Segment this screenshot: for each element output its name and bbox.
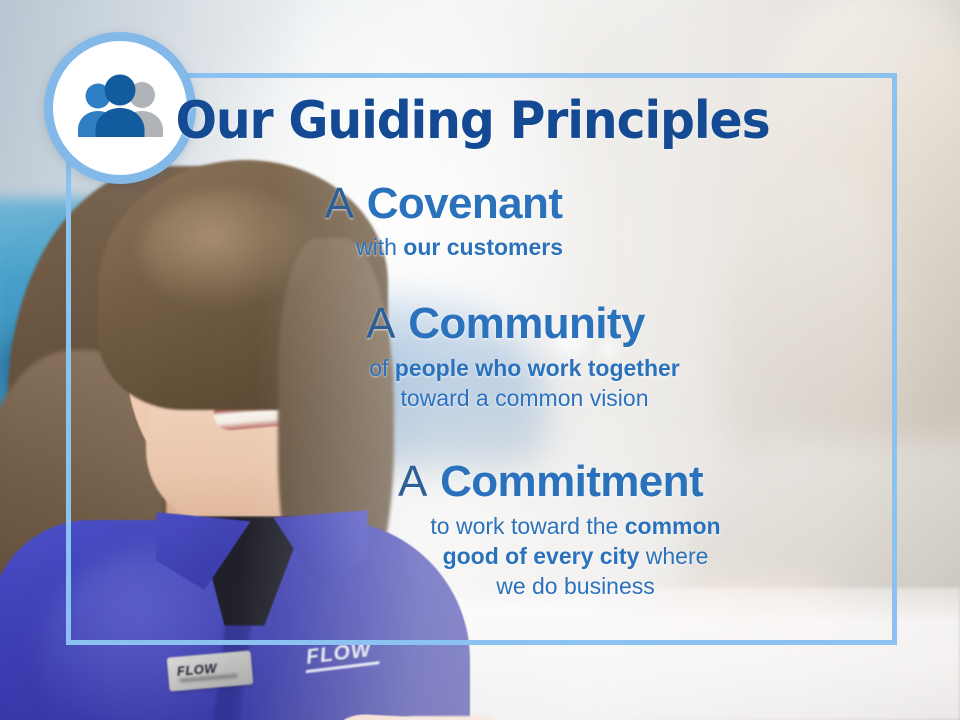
sub-text-normal: with [356, 234, 403, 260]
principle-article: A [325, 179, 355, 228]
principle-keyword: Community [408, 299, 645, 348]
sub-text-bold: common [625, 513, 721, 539]
sub-text-normal: we do business [496, 573, 655, 599]
sub-text-normal: of [369, 355, 395, 381]
principle-community-heading: A Community [66, 301, 897, 347]
sub-text-normal: toward a common vision [401, 385, 649, 411]
principle-commitment-subtitle: to work toward the common good of every … [66, 511, 897, 602]
promotional-graphic: FLOW FLOW Our Guiding Principles [0, 0, 960, 720]
principle-community: A Community of people who work together … [66, 301, 897, 413]
principle-covenant-heading: A Covenant [66, 181, 897, 227]
principle-article: A [398, 457, 428, 506]
text-content: Our Guiding Principles A Covenant with o… [66, 73, 897, 645]
principle-commitment-heading: A Commitment [66, 459, 897, 505]
sub-text-bold: good of every city [443, 543, 640, 569]
principle-keyword: Covenant [367, 179, 563, 228]
sub-text-normal: where [639, 543, 708, 569]
page-title: Our Guiding Principles [90, 95, 854, 147]
sub-text-bold: our customers [403, 234, 563, 260]
sub-text-normal: to work toward the [430, 513, 624, 539]
principle-commitment: A Commitment to work toward the common g… [66, 459, 897, 602]
principle-covenant-subtitle: with our customers [66, 232, 897, 262]
principle-keyword: Commitment [440, 457, 703, 506]
principle-article: A [366, 299, 396, 348]
principle-covenant: A Covenant with our customers [66, 181, 897, 262]
sub-text-bold: people who work together [395, 355, 680, 381]
principle-community-subtitle: of people who work together toward a com… [66, 353, 897, 414]
employee-name-badge: FLOW [167, 650, 254, 691]
